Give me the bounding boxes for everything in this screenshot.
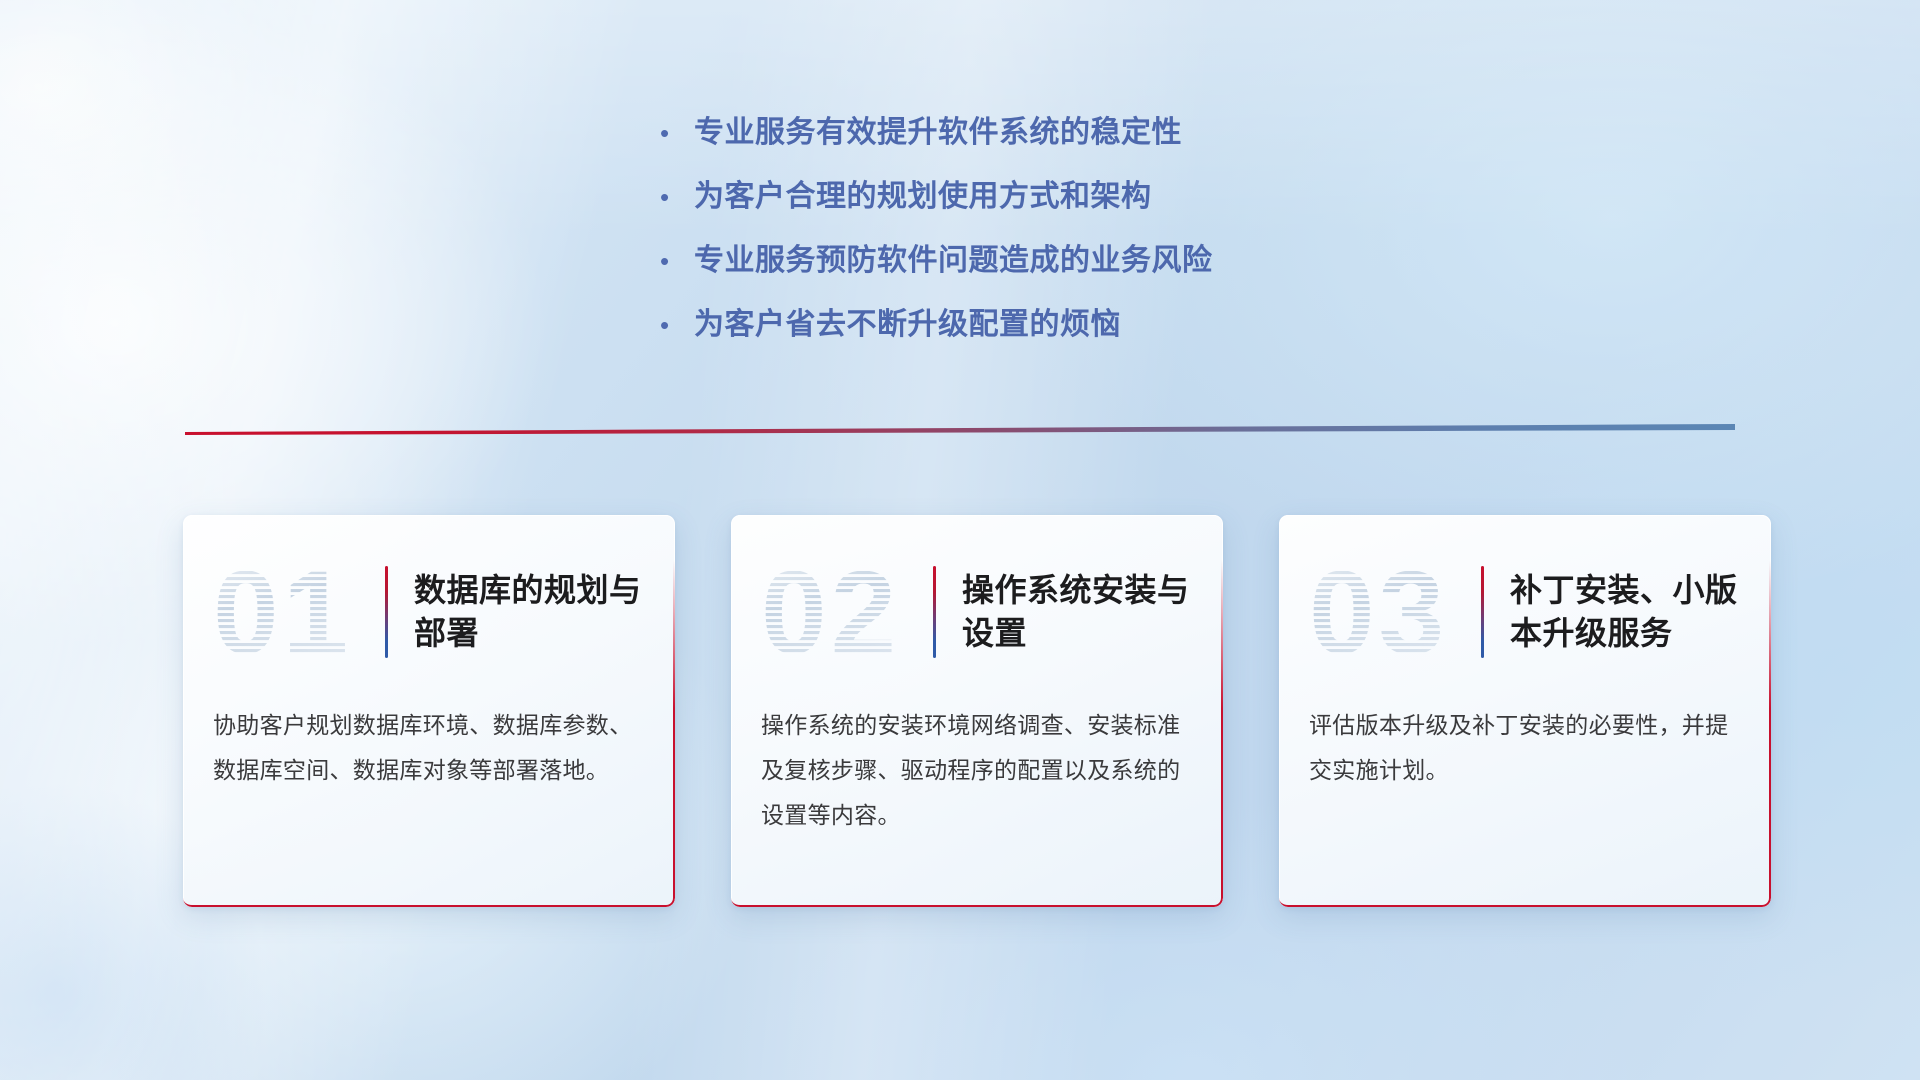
bullet-dot-icon: • <box>660 312 694 338</box>
section-divider <box>185 424 1735 440</box>
svg-text:02: 02 <box>761 553 900 671</box>
card-body-text: 操作系统的安装环境网络调查、安装标准及复核步骤、驱动程序的配置以及系统的设置等内… <box>731 675 1223 838</box>
card-number-decoration: 02 <box>759 553 927 671</box>
service-card[interactable]: 02 操作系统安装与设置 操作系统的安装环境网络调查、安装标准及复核步骤、驱动程… <box>731 515 1223 907</box>
list-item: • 专业服务预防软件问题造成的业务风险 <box>660 235 1213 299</box>
bullet-dot-icon: • <box>660 184 694 210</box>
card-number-decoration: 01 <box>211 553 379 671</box>
striped-number-icon: 01 <box>211 553 379 671</box>
bullet-text: 专业服务有效提升软件系统的稳定性 <box>694 107 1182 151</box>
card-header: 01 数据库的规划与部署 <box>183 515 675 675</box>
slide-canvas: • 专业服务有效提升软件系统的稳定性 • 为客户合理的规划使用方式和架构 • 专… <box>0 0 1920 1080</box>
card-title: 数据库的规划与部署 <box>414 569 664 655</box>
service-card[interactable]: 01 数据库的规划与部署 协助客户规划数据库环境、数据库参数、数据库空间、数据库… <box>183 515 675 907</box>
bullet-dot-icon: • <box>660 248 694 274</box>
card-header: 02 操作系统安装与设置 <box>731 515 1223 675</box>
striped-number-icon: 02 <box>759 553 927 671</box>
card-title: 操作系统安装与设置 <box>962 569 1212 655</box>
benefits-bullet-list: • 专业服务有效提升软件系统的稳定性 • 为客户合理的规划使用方式和架构 • 专… <box>660 107 1213 363</box>
card-accent-separator <box>933 566 936 658</box>
striped-number-icon: 03 <box>1307 553 1475 671</box>
divider-shape-icon <box>185 424 1735 440</box>
list-item: • 为客户省去不断升级配置的烦恼 <box>660 299 1213 363</box>
list-item: • 专业服务有效提升软件系统的稳定性 <box>660 107 1213 171</box>
card-title: 补丁安装、小版本升级服务 <box>1510 569 1760 655</box>
card-body-text: 评估版本升级及补丁安装的必要性，并提交实施计划。 <box>1279 675 1771 793</box>
bullet-text: 为客户合理的规划使用方式和架构 <box>694 171 1152 215</box>
service-card[interactable]: 03 补丁安装、小版本升级服务 评估版本升级及补丁安装的必要性，并提交实施计划。 <box>1279 515 1771 907</box>
list-item: • 为客户合理的规划使用方式和架构 <box>660 171 1213 235</box>
svg-text:03: 03 <box>1309 553 1448 671</box>
bullet-text: 为客户省去不断升级配置的烦恼 <box>694 299 1121 343</box>
bullet-text: 专业服务预防软件问题造成的业务风险 <box>694 235 1213 279</box>
card-accent-separator <box>1481 566 1484 658</box>
card-header: 03 补丁安装、小版本升级服务 <box>1279 515 1771 675</box>
service-card-row: 01 数据库的规划与部署 协助客户规划数据库环境、数据库参数、数据库空间、数据库… <box>183 515 1773 915</box>
card-number-decoration: 03 <box>1307 553 1475 671</box>
card-body-text: 协助客户规划数据库环境、数据库参数、数据库空间、数据库对象等部署落地。 <box>183 675 675 793</box>
bullet-dot-icon: • <box>660 120 694 146</box>
svg-text:01: 01 <box>213 553 352 671</box>
card-accent-separator <box>385 566 388 658</box>
